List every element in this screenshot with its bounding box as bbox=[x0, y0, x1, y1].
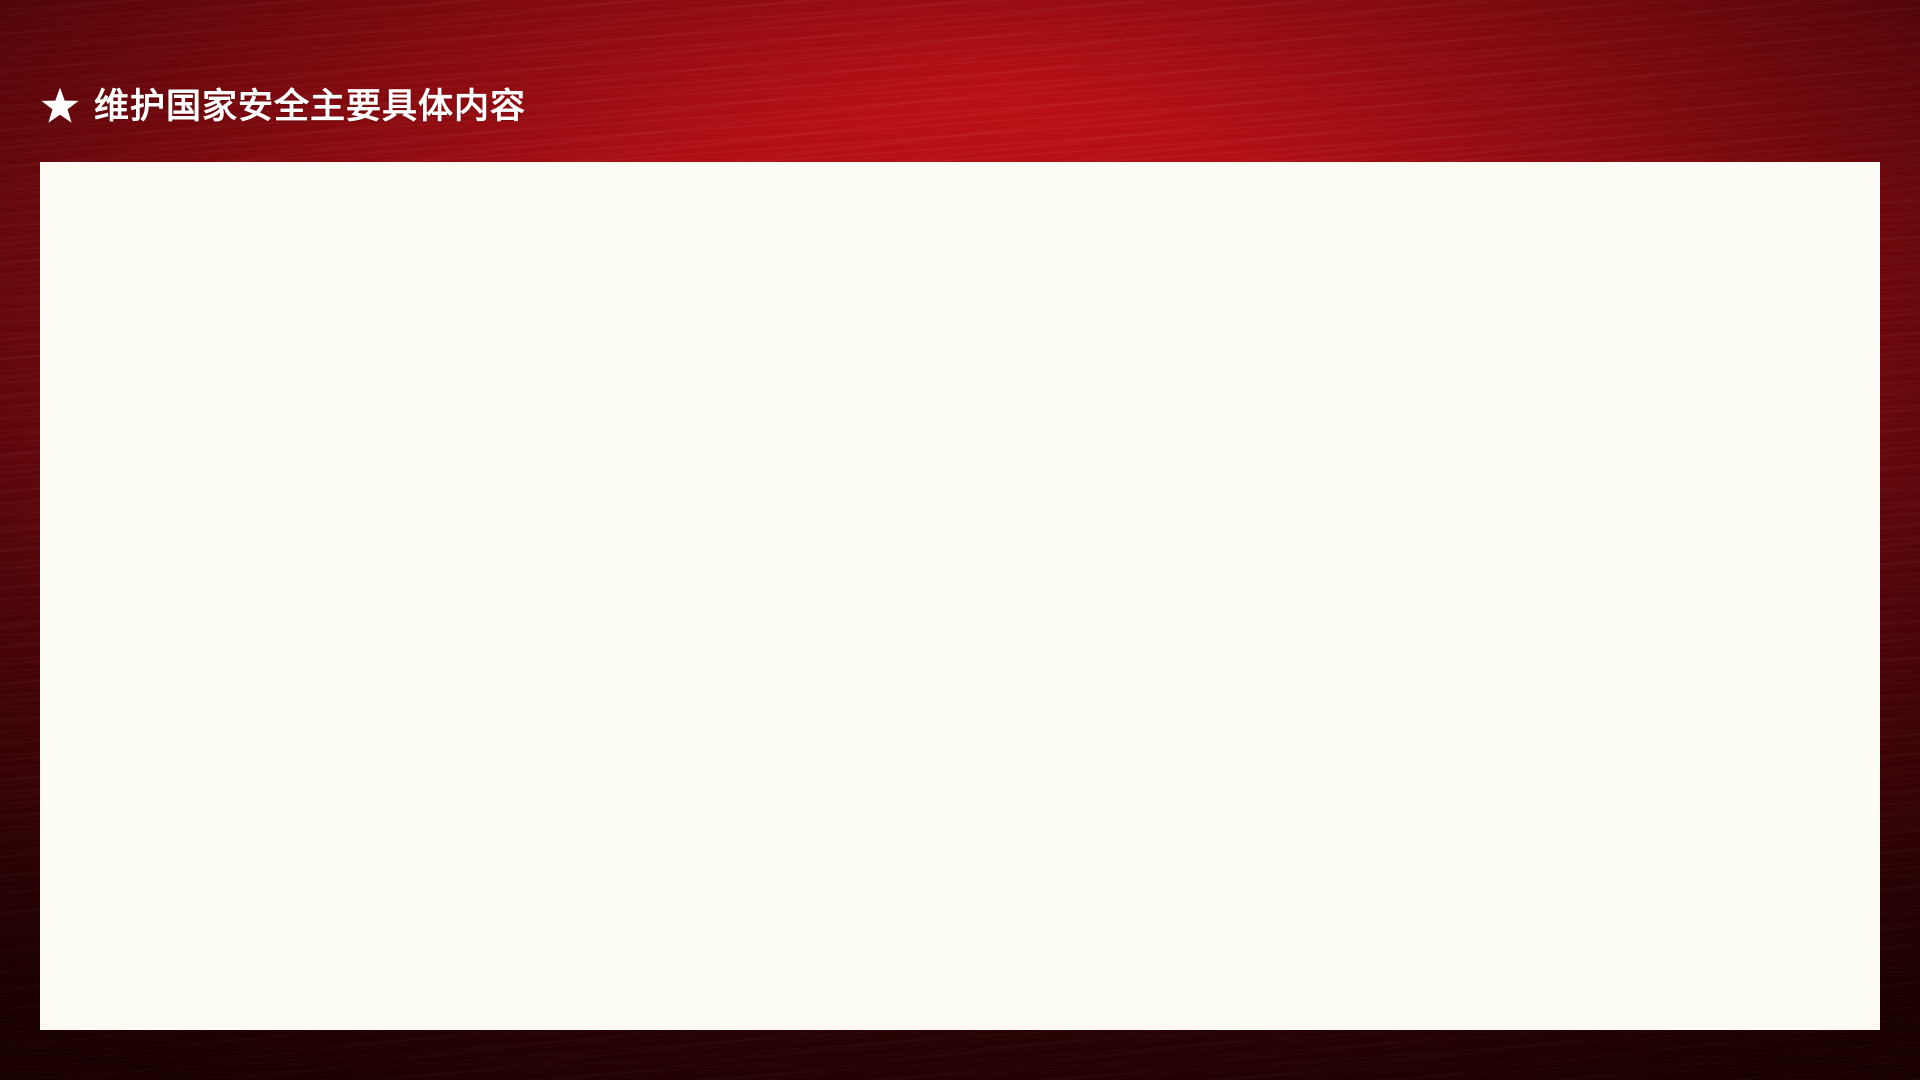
slide-root: 维护国家安全主要具体内容 维护政治安全 政治安全有关党和国家安危，是国家安全的根… bbox=[0, 0, 1920, 1080]
slide-header: 维护国家安全主要具体内容 bbox=[40, 86, 526, 126]
page-title: 维护国家安全主要具体内容 bbox=[94, 89, 526, 124]
content-panel bbox=[40, 162, 1880, 1030]
star-icon bbox=[40, 86, 80, 126]
